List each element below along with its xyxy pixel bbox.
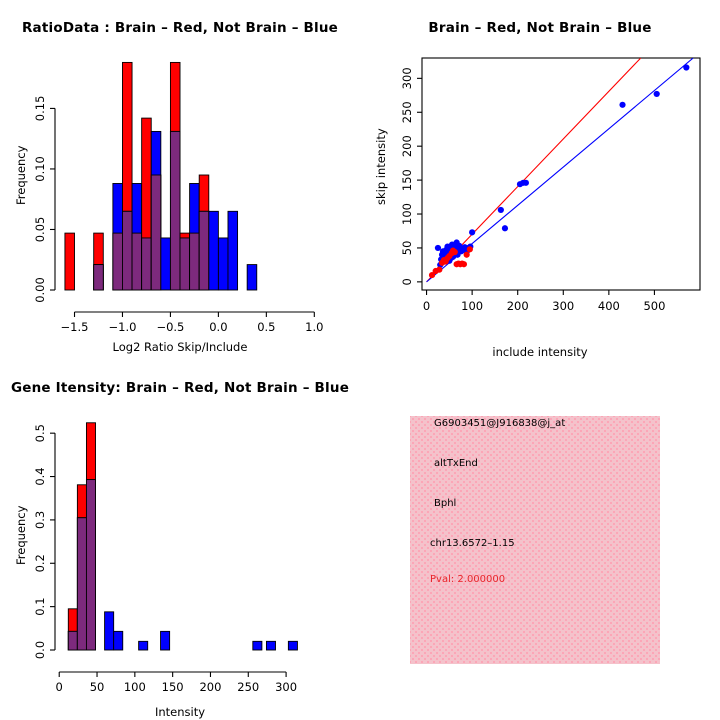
svg-text:0: 0 [400, 278, 414, 285]
svg-text:300: 300 [275, 680, 297, 694]
svg-text:0.10: 0.10 [33, 156, 47, 182]
annotation-locus: chr13.6572–1.15 [430, 538, 515, 549]
svg-text:−0.5: −0.5 [156, 320, 184, 334]
svg-text:0.15: 0.15 [33, 96, 47, 122]
gene-histogram-xlabel: Intensity [0, 705, 360, 719]
scatter-tick-labels: 0501001502002503000100200300400500 [400, 67, 665, 313]
svg-text:100: 100 [124, 680, 146, 694]
annotation-pval: Pval: 2.000000 [430, 574, 505, 585]
svg-text:0.2: 0.2 [33, 554, 47, 572]
svg-text:0.1: 0.1 [33, 597, 47, 615]
scatter-points [429, 64, 690, 278]
gene-histogram-ylabel: Frequency [14, 506, 28, 565]
svg-text:50: 50 [90, 680, 105, 694]
svg-text:300: 300 [400, 67, 414, 89]
scatter-title: Brain – Red, Not Brain – Blue [360, 20, 720, 36]
panel-gene-histogram: Gene Itensity: Brain – Red, Not Brain – … [0, 360, 360, 720]
svg-text:250: 250 [237, 680, 259, 694]
svg-text:−1.5: −1.5 [61, 320, 89, 334]
svg-text:0.3: 0.3 [33, 511, 47, 529]
svg-text:0.4: 0.4 [33, 467, 47, 485]
panel-intensity-scatter: Brain – Red, Not Brain – Blue 0501001502… [360, 0, 720, 360]
gene-histogram-plot: 0.00.10.20.30.40.5050100150200250300 [0, 400, 360, 700]
ratio-histogram-xlabel: Log2 Ratio Skip/Include [0, 340, 360, 354]
svg-text:250: 250 [400, 101, 414, 123]
svg-text:500: 500 [643, 299, 665, 313]
scatter-ylabel: skip intensity [374, 128, 388, 205]
svg-text:0: 0 [423, 299, 430, 313]
panel-ratio-histogram: RatioData : Brain – Red, Not Brain – Blu… [0, 0, 360, 360]
scatter-xlabel: include intensity [360, 345, 720, 359]
svg-text:0.05: 0.05 [33, 217, 47, 243]
gene-histogram-tick-labels: 0.00.10.20.30.40.5050100150200250300 [33, 424, 297, 694]
svg-text:400: 400 [598, 299, 620, 313]
ratio-histogram-plot: 0.000.050.100.15−1.5−1.0−0.50.00.51.0 [0, 40, 360, 340]
svg-text:0.0: 0.0 [209, 320, 227, 334]
panel-annotation: G6903451@J916838@j_at altTxEnd Bphl chr1… [360, 360, 720, 720]
ratio-histogram-bars [65, 62, 257, 290]
svg-text:0.5: 0.5 [257, 320, 275, 334]
svg-text:0.5: 0.5 [33, 424, 47, 442]
gene-histogram-title: Gene Itensity: Brain – Red, Not Brain – … [0, 380, 360, 396]
svg-text:0.0: 0.0 [33, 641, 47, 659]
svg-text:0.00: 0.00 [33, 277, 47, 303]
svg-text:150: 150 [162, 680, 184, 694]
svg-text:200: 200 [400, 135, 414, 157]
svg-text:300: 300 [552, 299, 574, 313]
annotation-probe-id: G6903451@J916838@j_at [434, 418, 565, 429]
svg-text:50: 50 [400, 241, 414, 256]
svg-text:0: 0 [56, 680, 63, 694]
svg-text:150: 150 [400, 169, 414, 191]
annotation-event-type: altTxEnd [434, 458, 478, 469]
svg-text:200: 200 [507, 299, 529, 313]
svg-text:100: 100 [461, 299, 483, 313]
svg-text:200: 200 [199, 680, 221, 694]
svg-text:1.0: 1.0 [305, 320, 323, 334]
ratio-histogram-ylabel: Frequency [14, 146, 28, 205]
gene-histogram-bars [68, 423, 297, 650]
ratio-histogram-title: RatioData : Brain – Red, Not Brain – Blu… [0, 20, 360, 36]
svg-text:100: 100 [400, 203, 414, 225]
scatter-plot: 0501001502002503000100200300400500 [360, 40, 720, 340]
annotation-gene-symbol: Bphl [434, 498, 456, 509]
svg-text:−1.0: −1.0 [109, 320, 137, 334]
